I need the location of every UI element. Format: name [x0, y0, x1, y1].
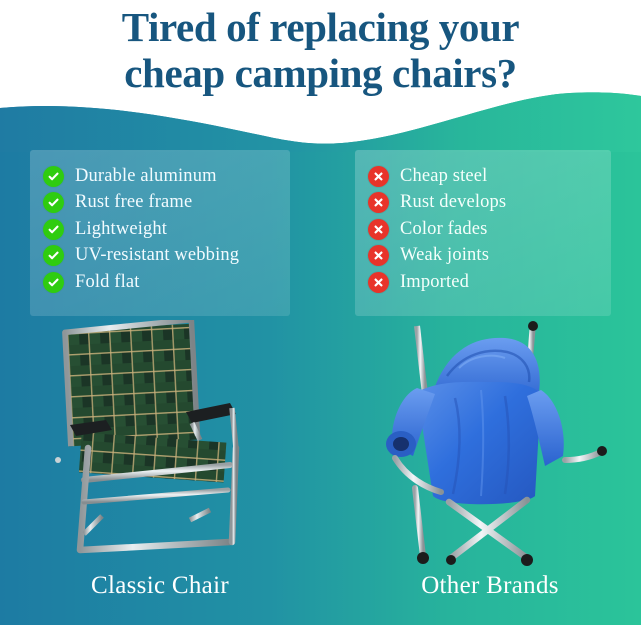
pros-list: Durable aluminum Rust free frame Lightwe…	[30, 150, 290, 296]
classic-chair-caption: Classic Chair	[20, 572, 300, 600]
cross-circle-icon	[368, 245, 389, 266]
list-item: Imported	[355, 269, 611, 296]
list-item-label: Lightweight	[75, 219, 167, 240]
list-item: Rust develops	[355, 190, 611, 217]
list-item-label: Rust develops	[400, 192, 506, 213]
other-brands-chair-image	[355, 320, 620, 570]
check-circle-icon	[43, 219, 64, 240]
list-item: Color fades	[355, 216, 611, 243]
list-item-label: Rust free frame	[75, 192, 192, 213]
cons-panel: Cheap steel Rust develops Color fades	[355, 150, 611, 316]
list-item: Rust free frame	[30, 190, 290, 217]
check-circle-icon	[43, 272, 64, 293]
list-item-label: Cheap steel	[400, 166, 487, 187]
list-item-label: Fold flat	[75, 272, 140, 293]
list-item-label: Weak joints	[400, 245, 489, 266]
check-circle-icon	[43, 192, 64, 213]
list-item-label: Imported	[400, 272, 469, 293]
list-item-label: UV-resistant webbing	[75, 245, 239, 266]
check-circle-icon	[43, 245, 64, 266]
check-circle-icon	[43, 166, 64, 187]
list-item: Fold flat	[30, 269, 290, 296]
cross-circle-icon	[368, 192, 389, 213]
list-item-label: Durable aluminum	[75, 166, 217, 187]
list-item: UV-resistant webbing	[30, 243, 290, 270]
cross-circle-icon	[368, 219, 389, 240]
list-item: Cheap steel	[355, 163, 611, 190]
cons-list: Cheap steel Rust develops Color fades	[355, 150, 611, 296]
classic-chair-image	[40, 320, 300, 570]
list-item: Durable aluminum	[30, 163, 290, 190]
cross-circle-icon	[368, 166, 389, 187]
list-item: Lightweight	[30, 216, 290, 243]
product-comparison: Classic Chair Other Brands	[0, 320, 641, 625]
list-item: Weak joints	[355, 243, 611, 270]
comparison-infographic: Tired of replacing your cheap camping ch…	[0, 0, 641, 625]
other-brands-caption: Other Brands	[350, 572, 630, 600]
pros-panel: Durable aluminum Rust free frame Lightwe…	[30, 150, 290, 316]
list-item-label: Color fades	[400, 219, 487, 240]
cross-circle-icon	[368, 272, 389, 293]
